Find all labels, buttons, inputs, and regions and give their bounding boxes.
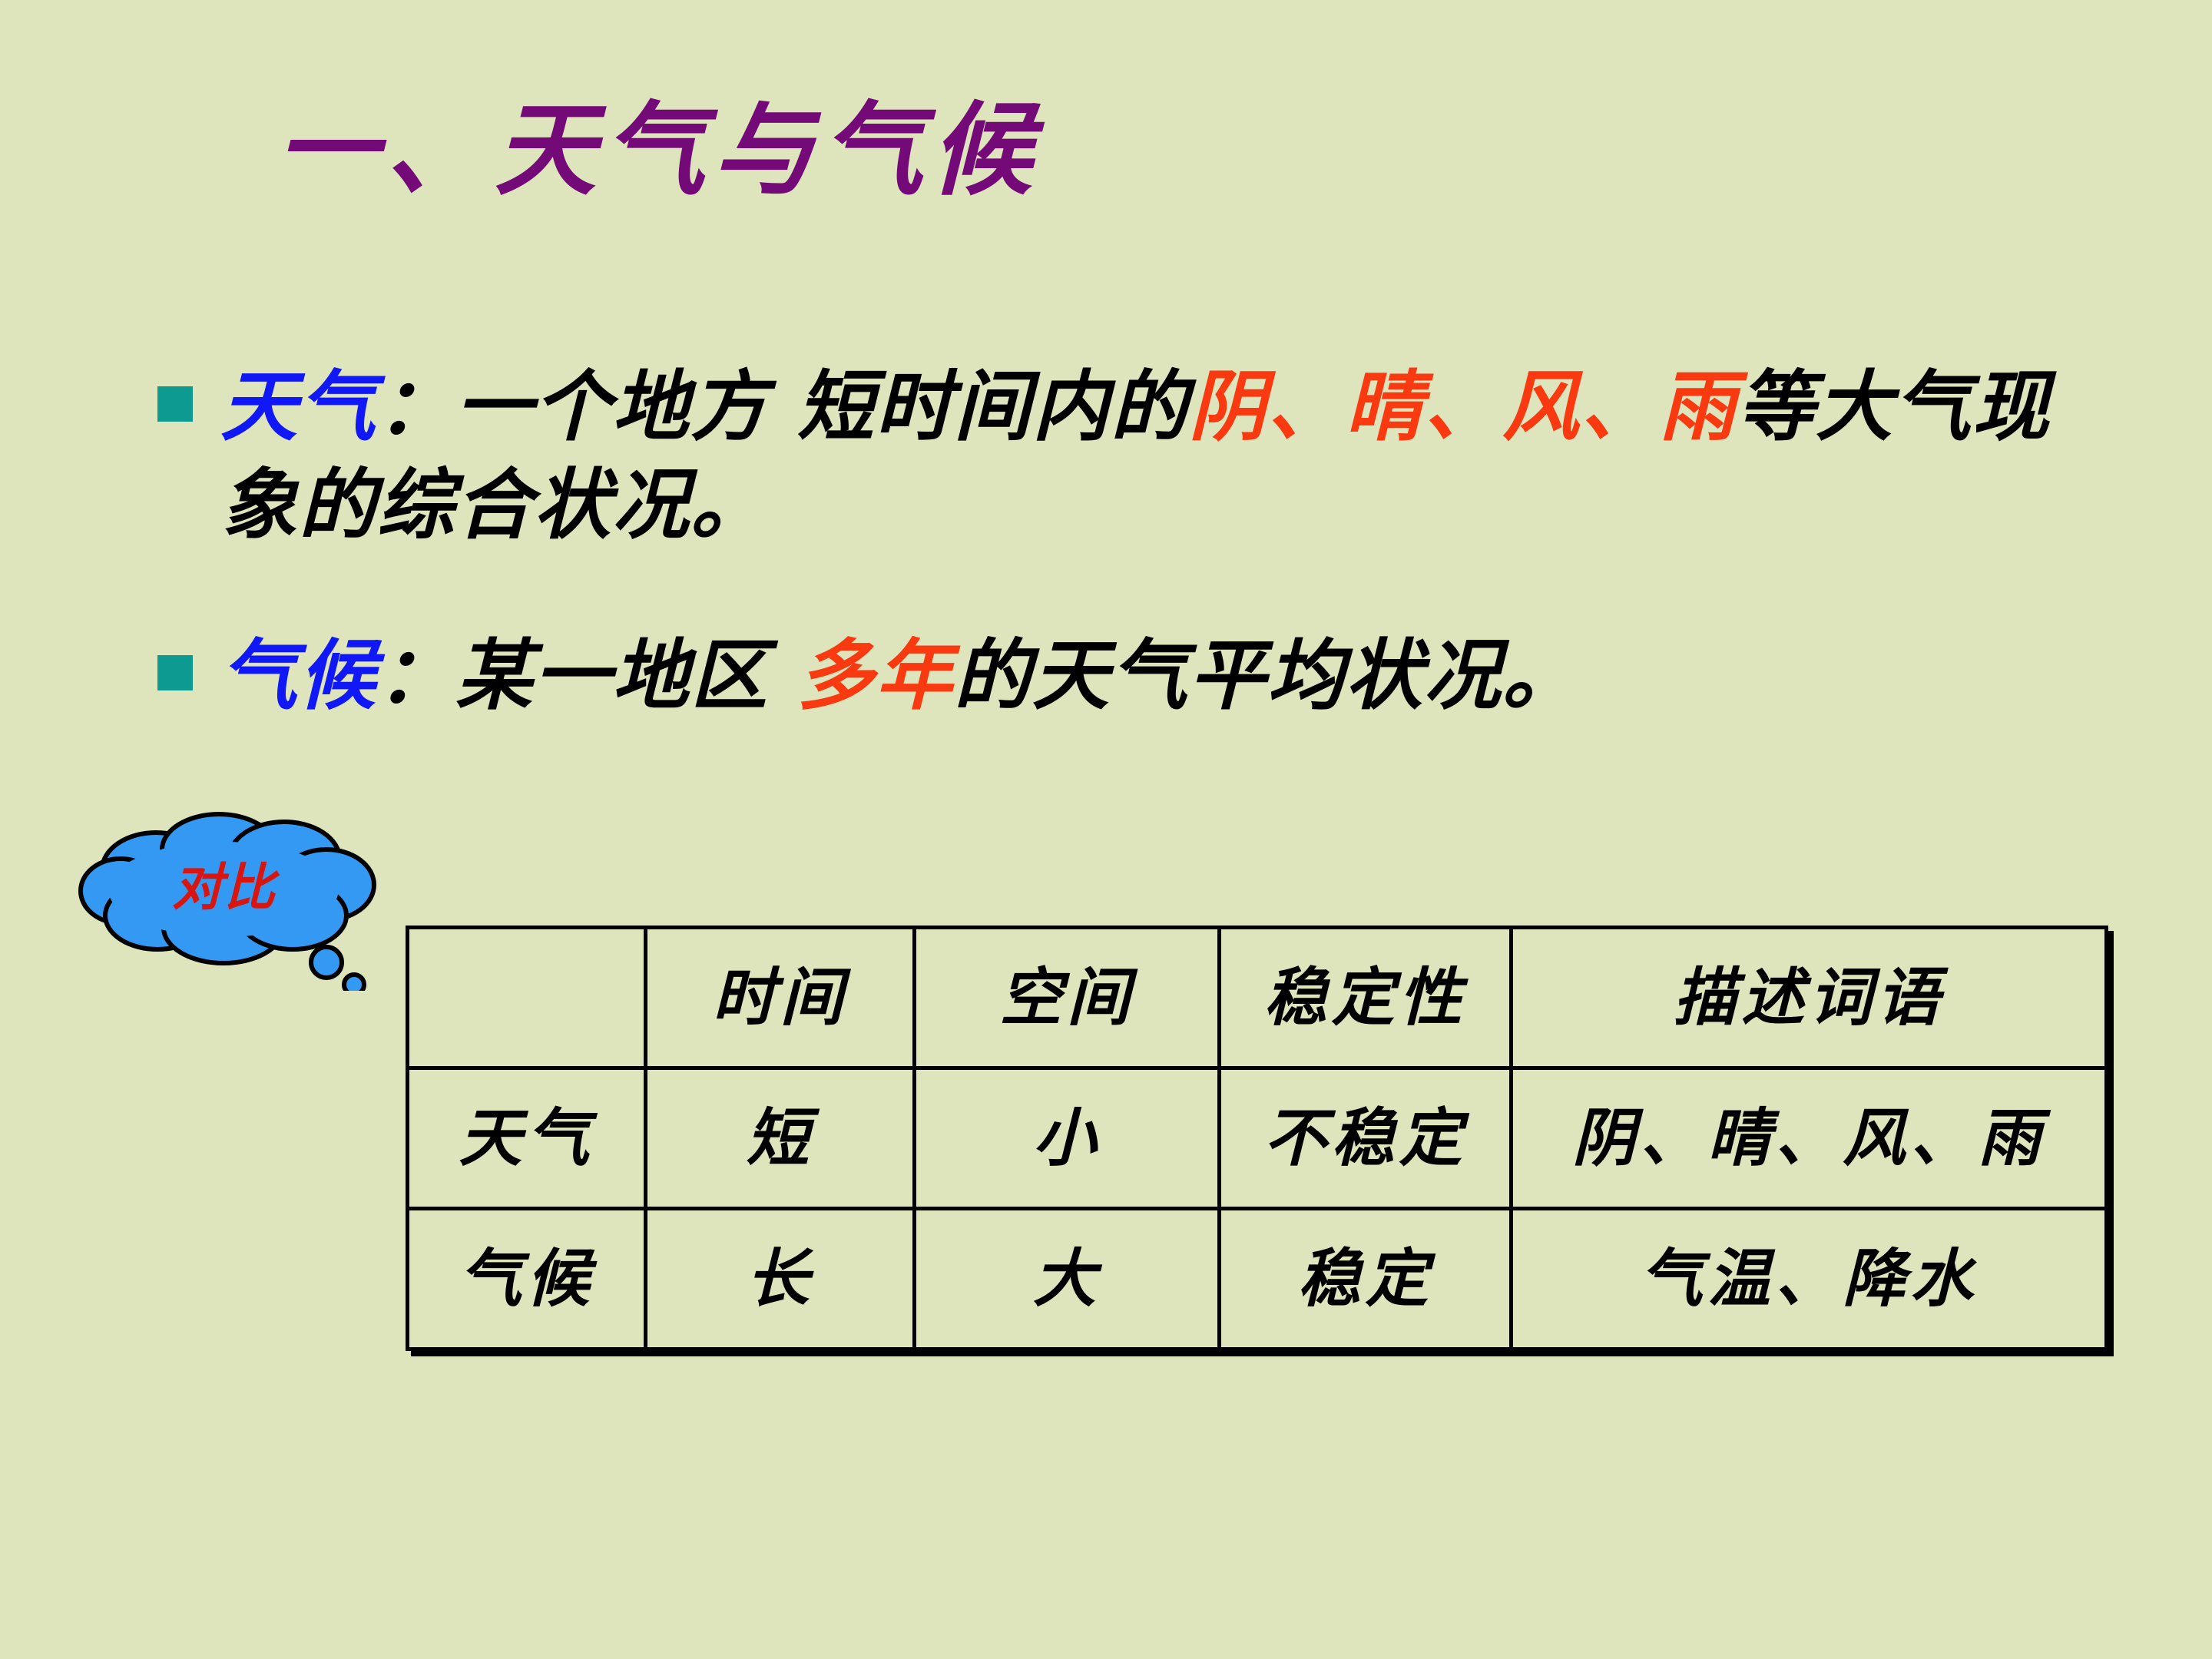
bullet-segment-red-climate: 多年	[797, 630, 954, 720]
thought-cloud-callout: 对比	[73, 799, 403, 991]
row-label-weather: 天气	[408, 1068, 646, 1209]
bullet-keyword-weather: 天气	[220, 361, 377, 452]
bullet-keyword-climate: 气候	[220, 630, 377, 720]
square-bullet-icon	[157, 386, 193, 422]
cell-climate-time: 长	[646, 1209, 915, 1349]
row-label-climate: 气候	[408, 1209, 646, 1349]
slide-canvas: 一、天气与气候 天气：一个地方 短时间内的阴、晴、风、雨等大气现象的综合状况。 …	[0, 0, 2212, 1659]
bullet-item-climate: 气候：某一地区 多年的天气平均状况。	[157, 626, 1581, 724]
bullet-text-climate: 气候：某一地区 多年的天气平均状况。	[220, 626, 1581, 724]
bullet-segment-black-1-climate: ：某一地区	[377, 630, 797, 720]
table-row: 天气 短 小 不稳定 阴、晴、风、雨	[408, 1068, 2107, 1209]
page-title: 一、天气与气候	[276, 100, 1040, 201]
table-header-stability: 稳定性	[1220, 928, 1512, 1068]
table-header-descriptors: 描述词语	[1512, 928, 2107, 1068]
bullet-text-weather: 天气：一个地方 短时间内的阴、晴、风、雨等大气现象的综合状况。	[220, 357, 2125, 554]
cell-climate-descriptors: 气温、降水	[1512, 1209, 2107, 1349]
cell-weather-space: 小	[915, 1068, 1220, 1209]
table-header-corner	[408, 928, 646, 1068]
cell-weather-descriptors: 阴、晴、风、雨	[1512, 1068, 2107, 1209]
table-row: 气候 长 大 稳定 气温、降水	[408, 1209, 2107, 1349]
bullet-segment-red-weather: 阴、晴、风、雨	[1189, 361, 1737, 452]
bullet-segment-black-2-climate: 的天气平均状况。	[954, 630, 1581, 720]
comparison-table: 时间 空间 稳定性 描述词语 天气 短 小 不稳定 阴、晴、风、雨 气候 长 大…	[406, 926, 2108, 1351]
table-header-row: 时间 空间 稳定性 描述词语	[408, 928, 2107, 1068]
bullet-segment-black-1-weather: ：一个地方 短时间内的	[377, 361, 1189, 452]
table-header-space: 空间	[915, 928, 1220, 1068]
bullet-item-weather: 天气：一个地方 短时间内的阴、晴、风、雨等大气现象的综合状况。	[157, 357, 2125, 554]
cell-weather-time: 短	[646, 1068, 915, 1209]
cell-weather-stability: 不稳定	[1220, 1068, 1512, 1209]
thought-cloud-icon	[73, 799, 403, 991]
square-bullet-icon	[157, 655, 193, 690]
table-header-time: 时间	[646, 928, 915, 1068]
cell-climate-stability: 稳定	[1220, 1209, 1512, 1349]
cell-climate-space: 大	[915, 1209, 1220, 1349]
